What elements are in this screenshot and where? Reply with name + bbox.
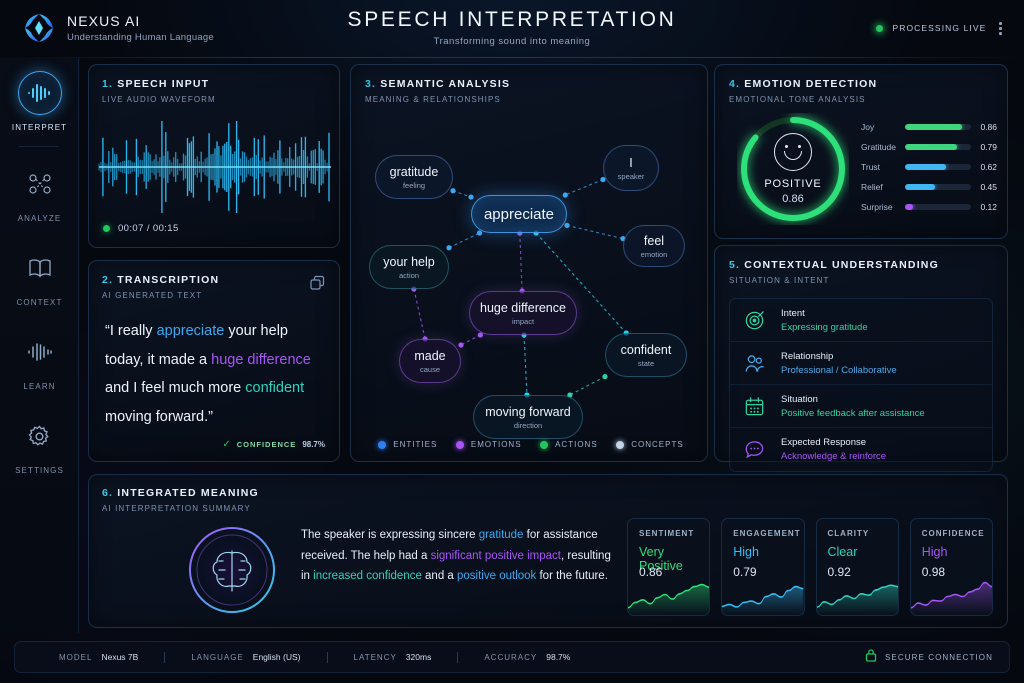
footer-divider — [457, 652, 458, 663]
legend-dot-icon — [616, 441, 624, 449]
emotion-bar-row: Relief 0.45 — [861, 177, 997, 197]
transcription-confidence: ✓ CONFIDENCE 98.7% — [222, 439, 325, 450]
integrated-subtitle: AI INTERPRETATION SUMMARY — [102, 504, 1007, 513]
context-value: Expressing gratitude — [781, 322, 868, 333]
semantic-subtitle: MEANING & RELATIONSHIPS — [365, 95, 707, 104]
legend-item-3[interactable]: CONCEPTS — [616, 440, 683, 449]
metric-status: Clear — [828, 545, 858, 559]
context-subtitle: SITUATION & INTENT — [729, 276, 1007, 285]
emotion-bar-track — [905, 144, 971, 151]
kebab-menu-icon[interactable] — [995, 20, 1006, 37]
integrated-header: 6. INTEGRATED MEANING AI INTERPRETATION … — [89, 475, 1007, 513]
text-segment: for the future. — [536, 570, 608, 582]
metric-sparkline — [628, 573, 709, 615]
emotion-bar-row: Joy 0.86 — [861, 117, 997, 137]
graph-node-appreciate[interactable]: appreciate — [471, 195, 567, 233]
node-name: gratitude — [390, 165, 439, 179]
speech-number: 1. — [102, 78, 113, 90]
semantic-number: 3. — [365, 78, 376, 90]
emotion-bar-list: Joy 0.86 Gratitude 0.79 Trust 0.62 Relie… — [861, 117, 997, 217]
emotion-value: 0.86 — [971, 122, 997, 132]
text-segment: and a — [422, 570, 457, 582]
speech-subtitle: LIVE AUDIO WAVEFORM — [102, 95, 339, 104]
metric-card-row: SENTIMENT Very Positive 0.86 ENGAGEMENT … — [627, 518, 993, 616]
app-root: NEXUS AI Understanding Human Language SP… — [0, 0, 1024, 683]
node-graph-icon — [18, 162, 62, 206]
legend-label: CONCEPTS — [631, 440, 683, 449]
live-status-dot — [876, 25, 883, 32]
header-divider — [0, 57, 1024, 58]
text-segment: gratitude — [479, 529, 524, 541]
transcription-header: 2. TRANSCRIPTION AI GENERATED TEXT — [89, 261, 339, 300]
metric-label: ENGAGEMENT — [733, 529, 800, 538]
graph-node-huge-difference[interactable]: huge difference impact — [469, 291, 577, 335]
context-number: 5. — [729, 259, 740, 271]
gauge-value: 0.86 — [782, 193, 803, 205]
metric-card-clarity[interactable]: CLARITY Clear 0.92 — [816, 518, 899, 616]
emotion-name: Relief — [861, 182, 905, 192]
footer-divider — [327, 652, 328, 663]
legend-label: ACTIONS — [555, 440, 598, 449]
semantic-header: 3. SEMANTIC ANALYSIS MEANING & RELATIONS… — [351, 65, 707, 104]
context-label: Relationship — [781, 351, 897, 362]
emotion-number: 4. — [729, 78, 740, 90]
legend-label: ENTITIES — [393, 440, 437, 449]
status-footer: MODEL Nexus 7B LANGUAGE English (US) LAT… — [14, 641, 1010, 673]
node-type: direction — [514, 421, 542, 430]
emotion-title: EMOTION DETECTION — [744, 78, 877, 90]
waveform-circle-icon — [18, 71, 62, 115]
node-type: feeling — [403, 181, 425, 190]
app-header: NEXUS AI Understanding Human Language SP… — [0, 0, 1024, 57]
emotion-bar-row: Trust 0.62 — [861, 157, 997, 177]
page-title-block: SPEECH INTERPRETATION Transforming sound… — [0, 8, 1024, 47]
footer-value: 98.7% — [546, 652, 570, 662]
node-type: speaker — [618, 172, 645, 181]
footer-key: LANGUAGE — [191, 653, 243, 662]
context-title: CONTEXTUAL UNDERSTANDING — [744, 259, 939, 271]
recording-dot-icon — [103, 225, 110, 232]
legend-item-1[interactable]: EMOTIONS — [456, 440, 522, 449]
metric-label: SENTIMENT — [639, 529, 694, 538]
sidebar-label-interpret: INTERPRET — [12, 123, 67, 132]
sidebar-label-analyze: ANALYZE — [18, 214, 62, 223]
speech-input-panel: 1. SPEECH INPUT LIVE AUDIO WAVEFORM 00:0… — [88, 64, 340, 248]
node-name: confident — [621, 343, 672, 357]
node-name: appreciate — [484, 206, 554, 223]
metric-card-sentiment[interactable]: SENTIMENT Very Positive 0.86 — [627, 518, 710, 616]
graph-node-your-help[interactable]: your help action — [369, 245, 449, 289]
sidebar-nav: INTERPRET ANALYZE CONTEXT — [0, 58, 79, 633]
sentiment-gauge: POSITIVE 0.86 — [737, 113, 849, 225]
node-name: your help — [383, 255, 434, 269]
open-book-icon — [18, 246, 62, 290]
transcription-number: 2. — [102, 274, 113, 286]
check-icon: ✓ — [222, 439, 230, 450]
copy-icon[interactable] — [309, 275, 326, 292]
sidebar-item-settings[interactable]: SETTINGS — [0, 401, 79, 485]
graph-node-made[interactable]: made cause — [399, 339, 461, 383]
smiley-face-icon — [774, 133, 812, 171]
sidebar-item-context[interactable]: CONTEXT — [0, 233, 79, 317]
metric-label: CLARITY — [828, 529, 870, 538]
emotion-bar-fill — [905, 204, 913, 211]
metric-card-engagement[interactable]: ENGAGEMENT High 0.79 — [721, 518, 804, 616]
node-name: made — [414, 349, 445, 363]
sidebar-label-learn: LEARN — [23, 382, 55, 391]
confidence-label: CONFIDENCE — [237, 440, 297, 449]
brain-icon — [187, 525, 277, 615]
transcription-subtitle: AI GENERATED TEXT — [102, 291, 339, 300]
contextual-understanding-panel: 5. CONTEXTUAL UNDERSTANDING SITUATION & … — [714, 245, 1008, 462]
metric-sparkline — [722, 573, 803, 615]
graph-node-moving-forward[interactable]: moving forward direction — [473, 395, 583, 439]
chat-icon — [742, 437, 767, 462]
sidebar-divider — [19, 146, 59, 147]
context-header: 5. CONTEXTUAL UNDERSTANDING SITUATION & … — [715, 246, 1007, 285]
text-segment: The speaker is expressing sincere — [301, 529, 479, 541]
text-segment: confident — [245, 380, 304, 396]
footer-value: Nexus 7B — [101, 652, 138, 662]
integrated-summary-text: The speaker is expressing sincere gratit… — [301, 525, 611, 587]
playback-timecode: 00:07 / 00:15 — [103, 223, 179, 234]
sidebar-label-settings: SETTINGS — [15, 466, 64, 475]
confidence-value: 98.7% — [302, 440, 325, 449]
node-name: feel — [644, 234, 664, 248]
emotion-bar-track — [905, 184, 971, 191]
text-segment: significant positive impact — [431, 550, 561, 562]
text-segment: and I feel much more — [105, 380, 245, 396]
metric-status: High — [922, 545, 948, 559]
emotion-name: Joy — [861, 122, 905, 132]
timecode-text: 00:07 / 00:15 — [118, 223, 179, 234]
emotion-bar-fill — [905, 184, 935, 191]
sidebar-label-context: CONTEXT — [17, 298, 63, 307]
gauge-label: POSITIVE — [764, 178, 821, 190]
lock-icon — [865, 648, 877, 667]
page-tagline: Transforming sound into meaning — [0, 36, 1024, 47]
speech-title: SPEECH INPUT — [117, 78, 209, 90]
context-row-situation[interactable]: Situation Positive feedback after assist… — [730, 385, 992, 428]
text-segment: huge difference — [211, 352, 311, 368]
footer-stats: MODEL Nexus 7B LANGUAGE English (US) LAT… — [59, 652, 570, 663]
people-icon — [742, 351, 767, 376]
target-icon — [742, 308, 767, 333]
live-status-label: PROCESSING LIVE — [892, 23, 986, 33]
metric-card-confidence[interactable]: CONFIDENCE High 0.98 — [910, 518, 993, 616]
emotion-bar-fill — [905, 164, 946, 171]
node-name: I — [629, 156, 632, 170]
emotion-name: Surprise — [861, 202, 905, 212]
context-row-relationship[interactable]: Relationship Professional / Collaborativ… — [730, 342, 992, 385]
graph-node-feel[interactable]: feel emotion — [623, 225, 685, 267]
emotion-value: 0.79 — [971, 142, 997, 152]
graph-node-gratitude[interactable]: gratitude feeling — [375, 155, 453, 199]
integrated-number: 6. — [102, 487, 113, 499]
integrated-title: INTEGRATED MEANING — [117, 487, 259, 499]
emotion-bar-track — [905, 204, 971, 211]
secure-connection-label: SECURE CONNECTION — [885, 653, 993, 662]
metric-sparkline — [817, 573, 898, 615]
context-label: Expected Response — [781, 437, 886, 448]
metric-label: CONFIDENCE — [922, 529, 985, 538]
node-name: moving forward — [485, 405, 570, 419]
speech-input-header: 1. SPEECH INPUT LIVE AUDIO WAVEFORM — [89, 65, 339, 104]
semantic-analysis-panel: 3. SEMANTIC ANALYSIS MEANING & RELATIONS… — [350, 64, 708, 462]
semantic-title: SEMANTIC ANALYSIS — [380, 78, 510, 90]
emotion-bar-track — [905, 124, 971, 131]
metric-status: High — [733, 545, 759, 559]
text-segment: appreciate — [157, 323, 225, 339]
transcription-title: TRANSCRIPTION — [117, 274, 219, 286]
footer-value: English (US) — [253, 652, 301, 662]
transcription-panel: 2. TRANSCRIPTION AI GENERATED TEXT “I re… — [88, 260, 340, 462]
legend-label: EMOTIONS — [471, 440, 522, 449]
context-row-expected-response[interactable]: Expected Response Acknowledge & reinforc… — [730, 428, 992, 471]
secure-connection-badge: SECURE CONNECTION — [865, 648, 993, 667]
emotion-bar-fill — [905, 124, 962, 131]
emotion-value: 0.45 — [971, 182, 997, 192]
legend-dot-icon — [456, 441, 464, 449]
node-type: state — [638, 359, 654, 368]
metric-sparkline — [911, 573, 992, 615]
legend-dot-icon — [378, 441, 386, 449]
node-type: impact — [512, 317, 534, 326]
graph-node-i[interactable]: I speaker — [603, 145, 659, 191]
context-label: Intent — [781, 308, 868, 319]
emotion-bar-row: Gratitude 0.79 — [861, 137, 997, 157]
sidebar-item-learn[interactable]: LEARN — [0, 317, 79, 401]
emotion-value: 0.12 — [971, 202, 997, 212]
status-area: PROCESSING LIVE — [876, 20, 1006, 37]
text-segment: moving forward.” — [105, 409, 213, 425]
legend-item-0[interactable]: ENTITIES — [378, 440, 437, 449]
footer-key: MODEL — [59, 653, 92, 662]
emotion-subtitle: EMOTIONAL TONE ANALYSIS — [729, 95, 1007, 104]
text-segment: increased confidence — [313, 570, 422, 582]
node-type: cause — [420, 365, 440, 374]
footer-divider — [164, 652, 165, 663]
gear-icon — [18, 414, 62, 458]
sidebar-item-analyze[interactable]: ANALYZE — [0, 149, 79, 233]
footer-key: ACCURACY — [484, 653, 537, 662]
emotion-value: 0.62 — [971, 162, 997, 172]
context-label: Situation — [781, 394, 925, 405]
equalizer-icon — [18, 330, 62, 374]
context-value: Positive feedback after assistance — [781, 408, 925, 419]
footer-key: LATENCY — [354, 653, 397, 662]
calendar-icon — [742, 394, 767, 419]
node-name: huge difference — [480, 301, 566, 315]
integrated-meaning-panel: 6. INTEGRATED MEANING AI INTERPRETATION … — [88, 474, 1008, 628]
transcription-text: “I really appreciate your help today, it… — [105, 317, 325, 431]
text-segment: positive outlook — [457, 570, 536, 582]
emotion-bar-track — [905, 164, 971, 171]
page-title: SPEECH INTERPRETATION — [0, 8, 1024, 32]
semantic-legend: ENTITIES EMOTIONS ACTIONS CONCEPTS — [369, 440, 693, 449]
node-type: emotion — [641, 250, 668, 259]
emotion-name: Gratitude — [861, 142, 905, 152]
legend-item-2[interactable]: ACTIONS — [540, 440, 598, 449]
emotion-header: 4. EMOTION DETECTION EMOTIONAL TONE ANAL… — [715, 65, 1007, 104]
context-row-list: Intent Expressing gratitude Relationship… — [729, 298, 993, 472]
legend-dot-icon — [540, 441, 548, 449]
emotion-bar-row: Surprise 0.12 — [861, 197, 997, 217]
audio-waveform[interactable] — [97, 117, 333, 217]
context-value: Professional / Collaborative — [781, 365, 897, 376]
emotion-detection-panel: 4. EMOTION DETECTION EMOTIONAL TONE ANAL… — [714, 64, 1008, 239]
text-segment: “I really — [105, 323, 157, 339]
sidebar-item-interpret[interactable]: INTERPRET — [0, 58, 79, 142]
graph-node-confident[interactable]: confident state — [605, 333, 687, 377]
emotion-name: Trust — [861, 162, 905, 172]
emotion-bar-fill — [905, 144, 957, 151]
footer-value: 320ms — [406, 652, 432, 662]
context-value: Acknowledge & reinforce — [781, 451, 886, 462]
node-type: action — [399, 271, 419, 280]
semantic-graph[interactable]: gratitude feeling I speaker appreciate f… — [351, 107, 709, 425]
context-row-intent[interactable]: Intent Expressing gratitude — [730, 299, 992, 342]
